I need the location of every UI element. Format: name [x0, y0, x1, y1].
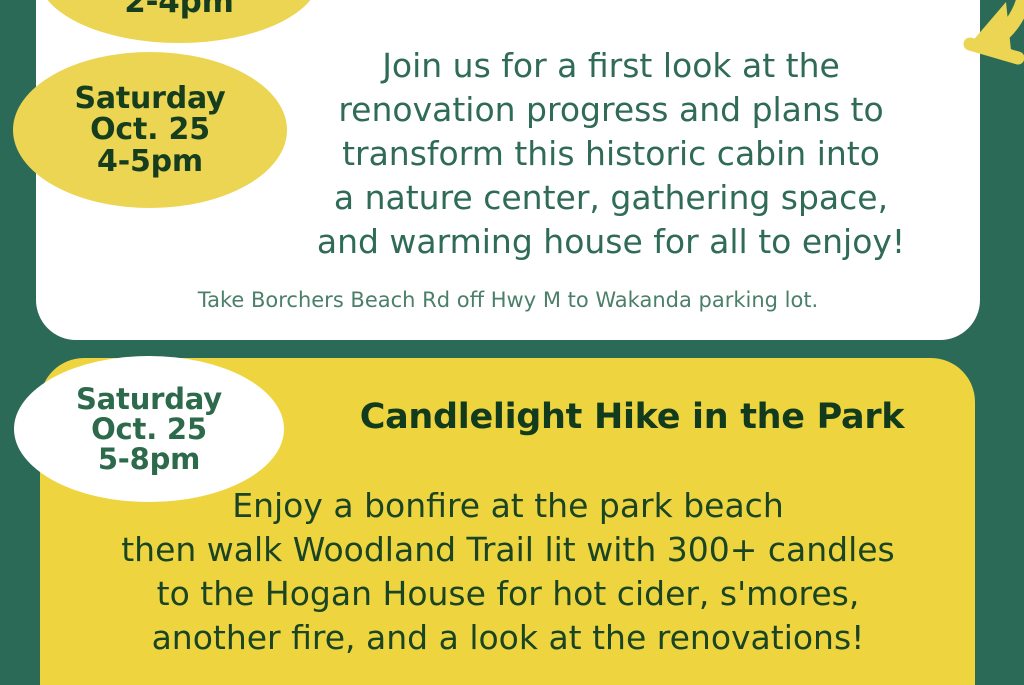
- directions-text: Take Borchers Beach Rd off Hwy M to Waka…: [36, 288, 980, 313]
- event-poster: Join us for a first look at the renovati…: [0, 0, 1024, 685]
- open-house-body-line-4: a nature center, gathering space,: [252, 176, 970, 220]
- date-badge-oct-25-5-8pm: Saturday Oct. 25 5-8pm: [14, 356, 284, 502]
- candlelight-body-line-2: then walk Woodland Trail lit with 300+ c…: [44, 528, 972, 572]
- open-house-body-line-5: and warming house for all to enjoy!: [252, 220, 970, 264]
- date-badge-3-line-3: 5-8pm: [98, 444, 200, 474]
- date-badge-2-line-3: 4-5pm: [97, 146, 203, 177]
- date-badge-oct-25-4-5pm: Saturday Oct. 25 4-5pm: [13, 52, 287, 208]
- open-house-body-line-1: Join us for a first look at the: [252, 44, 970, 88]
- date-badge-2-line-2: Oct. 25: [90, 114, 210, 145]
- date-badge-2-line-1: Saturday: [74, 83, 225, 114]
- date-badge-3-line-1: Saturday: [76, 384, 222, 414]
- candlelight-body-line-3: to the Hogan House for hot cider, s'more…: [44, 572, 972, 616]
- candlelight-body-text: Enjoy a bonfire at the park beach then w…: [44, 484, 972, 660]
- open-house-body-line-3: transform this historic cabin into: [252, 132, 970, 176]
- open-house-body-line-2: renovation progress and plans to: [252, 88, 970, 132]
- open-house-body-text: Join us for a first look at the renovati…: [252, 44, 970, 263]
- time-badge-line-1: 2-4pm: [124, 0, 234, 18]
- candlelight-body-line-4: another fire, and a look at the renovati…: [44, 616, 972, 660]
- candlelight-heading: Candlelight Hike in the Park: [294, 397, 970, 437]
- date-badge-3-line-2: Oct. 25: [91, 414, 207, 444]
